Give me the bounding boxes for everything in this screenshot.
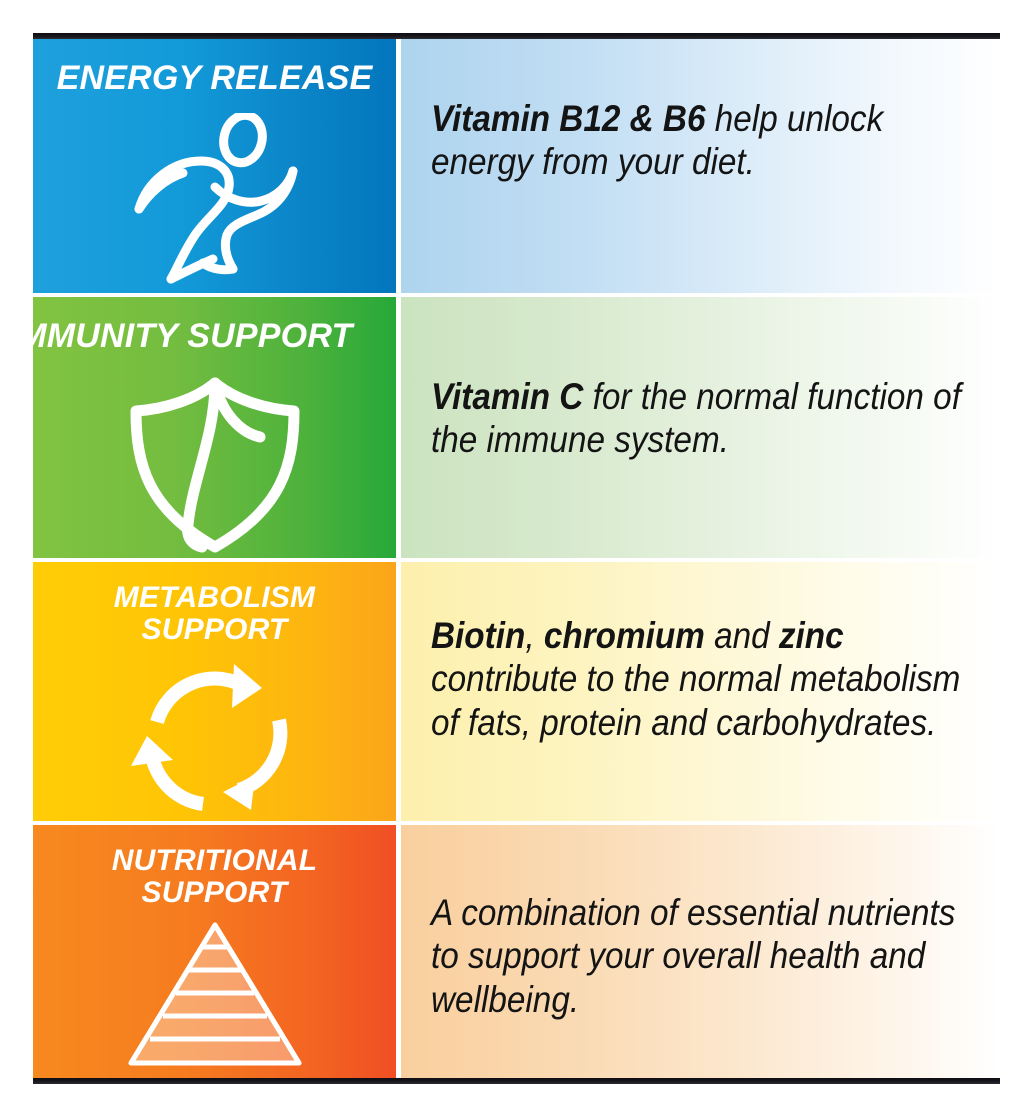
tile-immunity-support: IMMUNITY SUPPORT <box>33 297 396 558</box>
benefits-panel-graphic: ENERGY RELEASE Vitamin <box>0 0 1030 1120</box>
panel-metabolism-support: Biotin, chromium and zinc contribute to … <box>401 562 1000 821</box>
running-figure-icon <box>33 113 396 290</box>
tile-energy-release: ENERGY RELEASE <box>33 39 396 293</box>
benefit-row-immunity-support: IMMUNITY SUPPORT Vitamin C for the norma… <box>33 297 1000 558</box>
tile-label-line-2: SUPPORT <box>142 613 288 646</box>
tile-label-line-1: METABOLISM <box>114 581 315 614</box>
panel-text-energy-release: Vitamin B12 & B6 help unlock energy from… <box>431 97 989 184</box>
panel-text-lead-energy: Vitamin B12 & B6 <box>431 98 706 139</box>
pyramid-icon <box>33 921 396 1072</box>
tile-label-immunity-support: IMMUNITY SUPPORT <box>33 319 362 353</box>
panel-text-nutritional-support: A combination of essential nutrients to … <box>431 891 989 1021</box>
bottom-divider-rule <box>33 1078 1000 1084</box>
benefits-grid: ENERGY RELEASE Vitamin <box>33 39 1000 1078</box>
tile-label-energy-release: ENERGY RELEASE <box>33 61 396 95</box>
tile-label-line-1: NUTRITIONAL <box>112 844 318 877</box>
tile-label-nutritional-support: NUTRITIONAL SUPPORT <box>33 845 396 909</box>
panel-energy-release: Vitamin B12 & B6 help unlock energy from… <box>401 39 1000 293</box>
tile-metabolism-support: METABOLISM SUPPORT <box>33 562 396 821</box>
panel-text-metabolism-support: Biotin, chromium and zinc contribute to … <box>431 614 989 744</box>
tile-nutritional-support: NUTRITIONAL SUPPORT <box>33 825 396 1078</box>
circular-arrows-cycle-icon <box>33 658 396 819</box>
panel-nutritional-support: A combination of essential nutrients to … <box>401 825 1000 1078</box>
panel-immunity-support: Vitamin C for the normal function of the… <box>401 297 1000 558</box>
panel-text-immunity-support: Vitamin C for the normal function of the… <box>431 375 989 462</box>
panel-text-lead-immunity: Vitamin C <box>431 376 583 417</box>
benefit-row-metabolism-support: METABOLISM SUPPORT Biotin, <box>33 562 1000 821</box>
tile-label-metabolism-support: METABOLISM SUPPORT <box>33 582 396 646</box>
benefit-row-energy-release: ENERGY RELEASE Vitamin <box>33 39 1000 293</box>
panel-text-lead-chromium: chromium <box>544 615 705 656</box>
tile-label-line-2: SUPPORT <box>142 876 288 909</box>
shield-leaf-icon <box>33 375 396 558</box>
panel-text-lead-zinc: zinc <box>779 615 844 656</box>
benefit-row-nutritional-support: NUTRITIONAL SUPPORT A combi <box>33 825 1000 1078</box>
panel-text-lead-biotin: Biotin <box>431 615 525 656</box>
